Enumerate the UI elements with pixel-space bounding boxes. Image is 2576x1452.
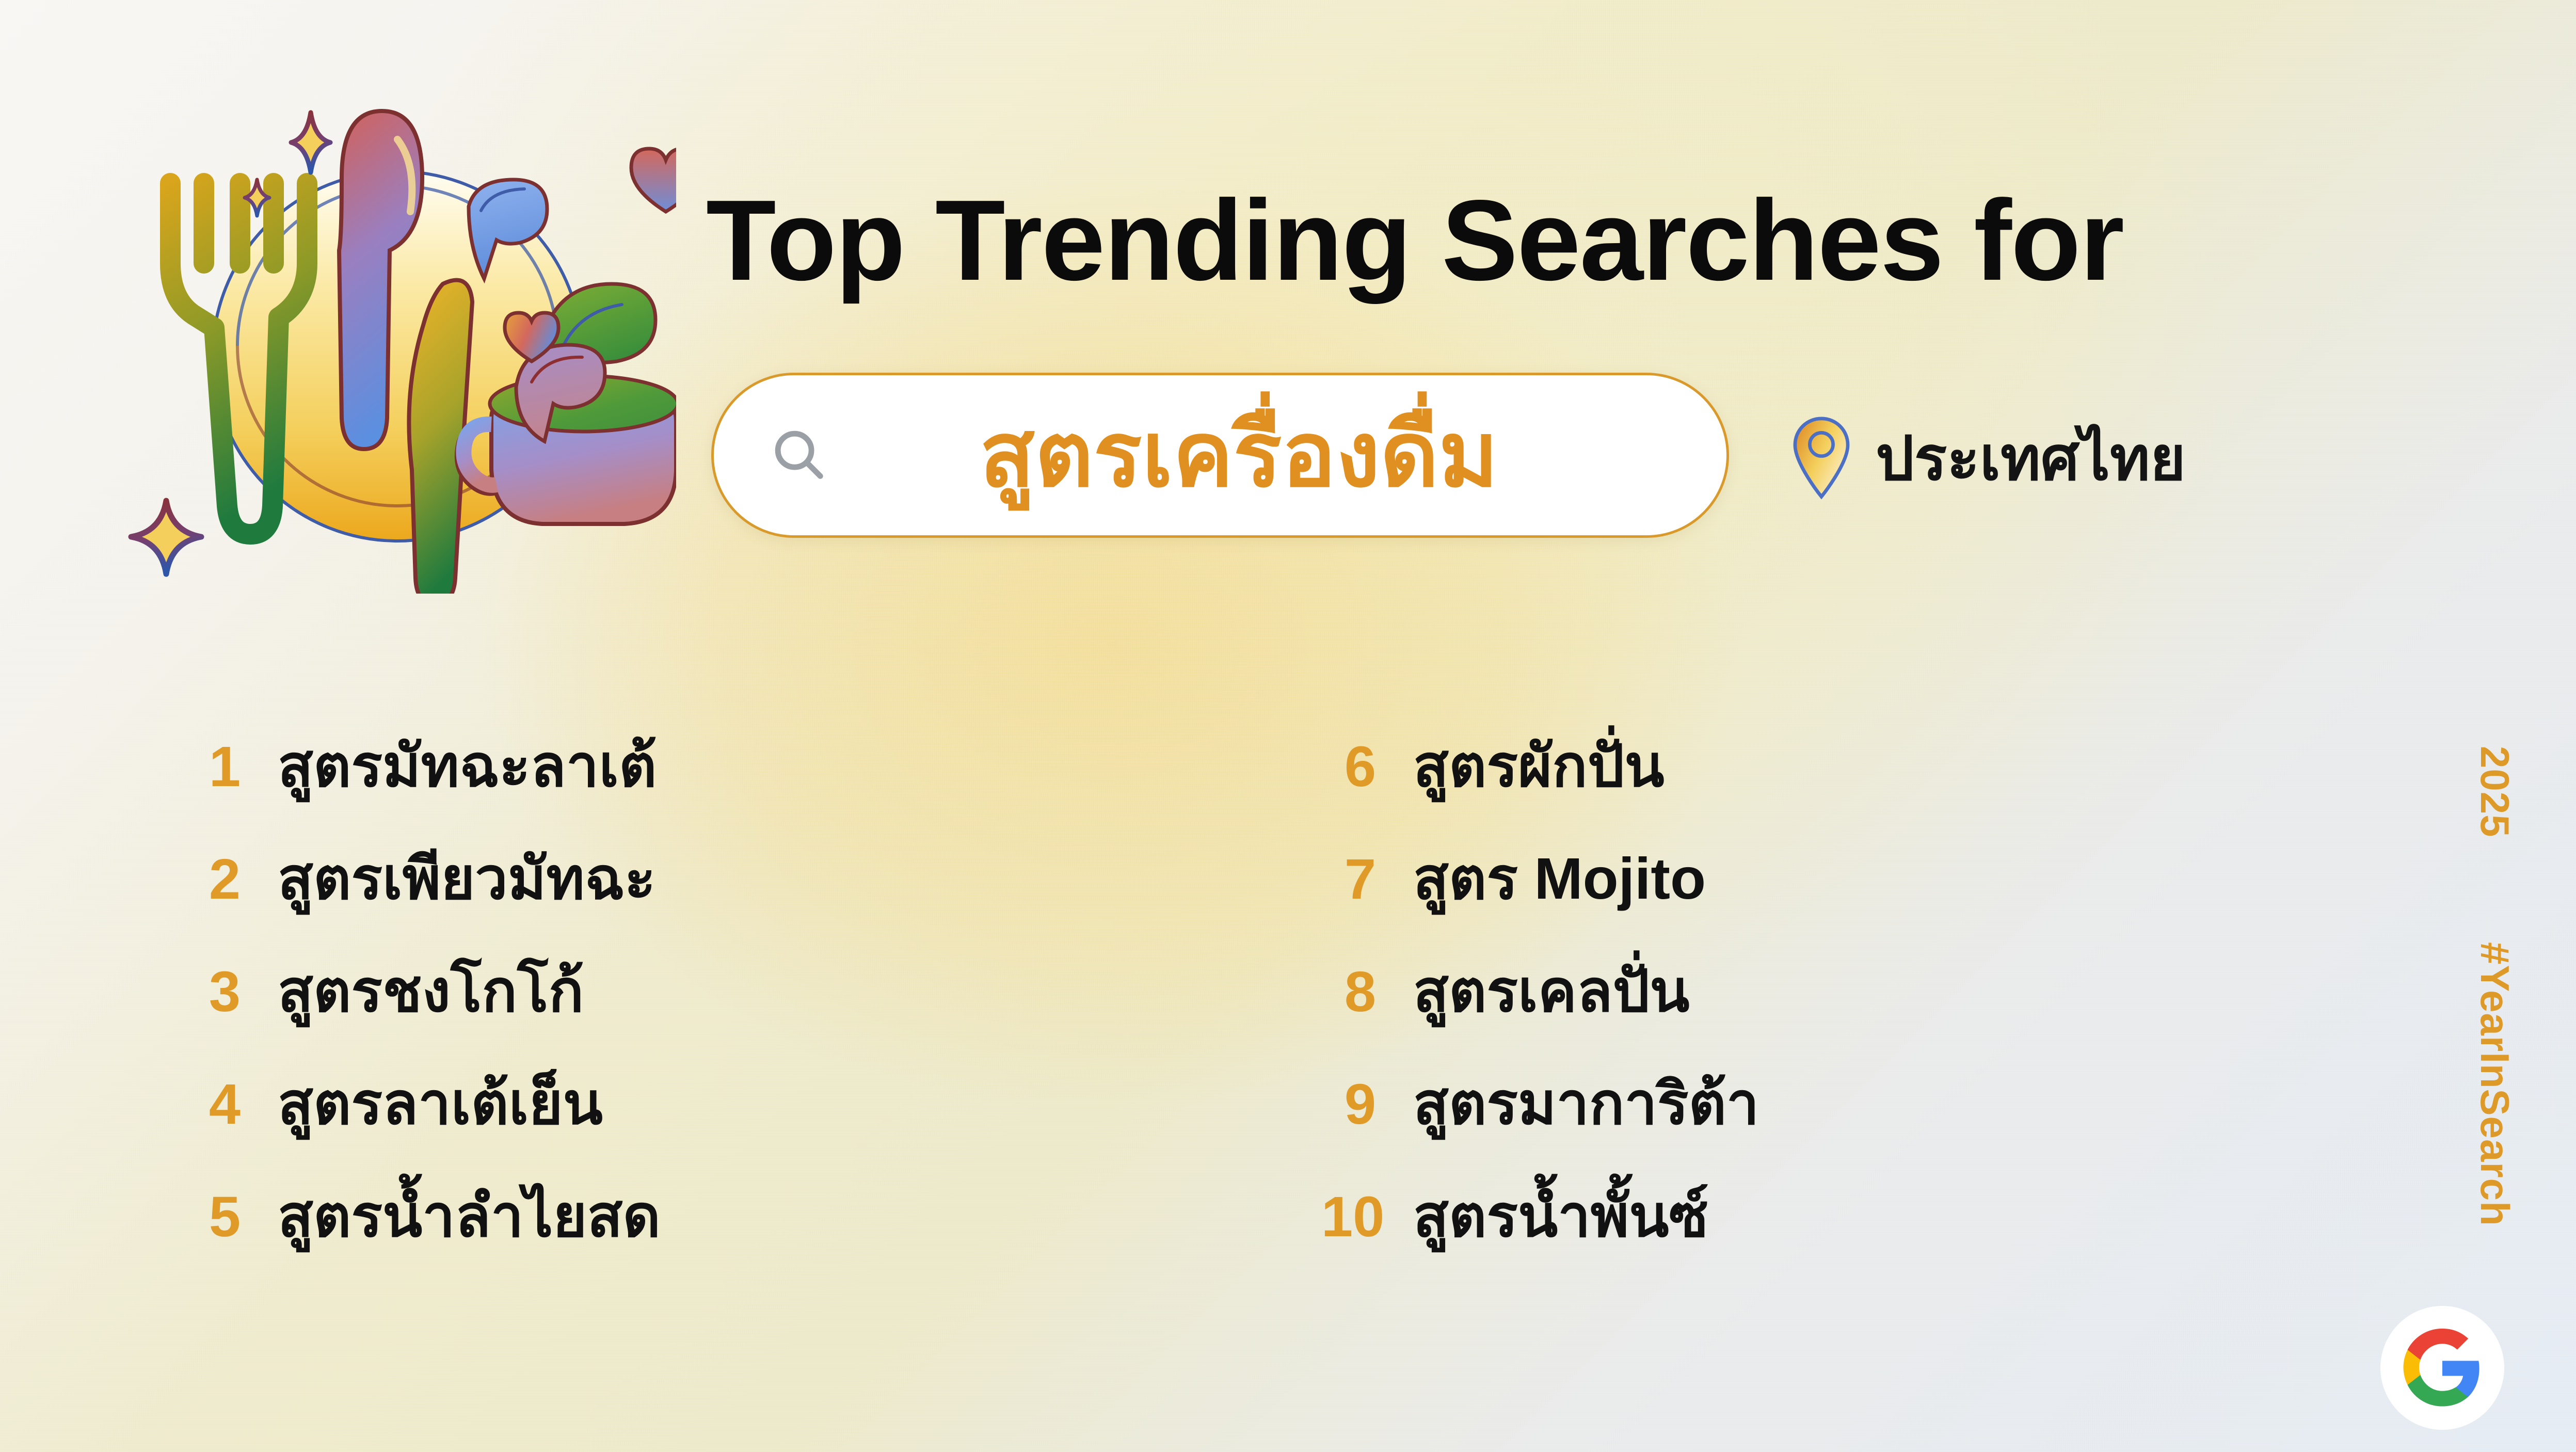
list-item[interactable]: 4 สูตรลาเต้เย็น [186,1071,908,1183]
food-and-drink-illustration [108,57,676,594]
page-title: Top Trending Searches for [706,183,2123,298]
hashtag-label: #YearInSearch [2471,942,2518,1226]
list-item[interactable]: 1 สูตรมัทฉะลาเต้ [186,733,908,845]
rank-number: 1 [186,739,278,795]
location-indicator: ประเทศไทย [1791,416,2186,503]
rank-number: 4 [186,1076,278,1133]
search-term-label: สูตรเพียวมัทฉะ [278,845,655,913]
search-term-label: สูตร Mojito [1413,845,1706,913]
search-box[interactable]: สูตรเครื่องดื่ม [711,373,1729,538]
search-icon [768,424,829,487]
rank-number: 2 [186,851,278,908]
search-term: สูตรเครื่องดื่ม [829,403,1726,507]
rank-number: 5 [186,1189,278,1246]
list-item[interactable]: 3 สูตรชงโกโก้ [186,958,908,1071]
list-item[interactable]: 6 สูตรผักปั่น [1321,733,2095,845]
rank-number: 10 [1321,1189,1413,1246]
list-item[interactable]: 9 สูตรมาการิต้า [1321,1071,2095,1183]
search-term-label: สูตรน้ำลำไยสด [278,1183,661,1250]
map-pin-icon [1791,416,1852,503]
search-term-label: สูตรลาเต้เย็น [278,1071,603,1138]
trending-list-right: 6 สูตรผักปั่น 7 สูตร Mojito 8 สูตรเคลปั่… [1321,733,2095,1296]
rank-number: 8 [1321,964,1413,1020]
list-item[interactable]: 8 สูตรเคลปั่น [1321,958,2095,1071]
search-term-label: สูตรมาการิต้า [1413,1071,1759,1138]
sparkle-icon [131,501,201,574]
rank-number: 9 [1321,1076,1413,1133]
list-item[interactable]: 7 สูตร Mojito [1321,845,2095,958]
location-label: ประเทศไทย [1876,426,2186,493]
search-term-label: สูตรมัทฉะลาเต้ [278,733,657,800]
year-label: 2025 [2471,746,2518,838]
search-term-label: สูตรชงโกโก้ [278,958,584,1025]
trending-list-left: 1 สูตรมัทฉะลาเต้ 2 สูตรเพียวมัทฉะ 3 สูตร… [186,733,908,1296]
list-item[interactable]: 2 สูตรเพียวมัทฉะ [186,845,908,958]
search-term-label: สูตรผักปั่น [1413,733,1665,800]
search-term-label: สูตรเคลปั่น [1413,958,1689,1025]
rank-number: 3 [186,964,278,1020]
list-item[interactable]: 10 สูตรน้ำพั้นซ์ [1321,1183,2095,1296]
side-vertical-text: 2025 #YearInSearch [2487,746,2549,1288]
search-term-label: สูตรน้ำพั้นซ์ [1413,1183,1708,1250]
poster-canvas: Top Trending Searches for สูตรเครื่องดื่… [0,0,2576,1452]
list-item[interactable]: 5 สูตรน้ำลำไยสด [186,1183,908,1296]
rank-number: 7 [1321,851,1413,908]
heart-large-icon [631,149,676,212]
google-g-logo [2380,1306,2504,1430]
rank-number: 6 [1321,739,1413,795]
sparkle-icon [291,113,330,172]
